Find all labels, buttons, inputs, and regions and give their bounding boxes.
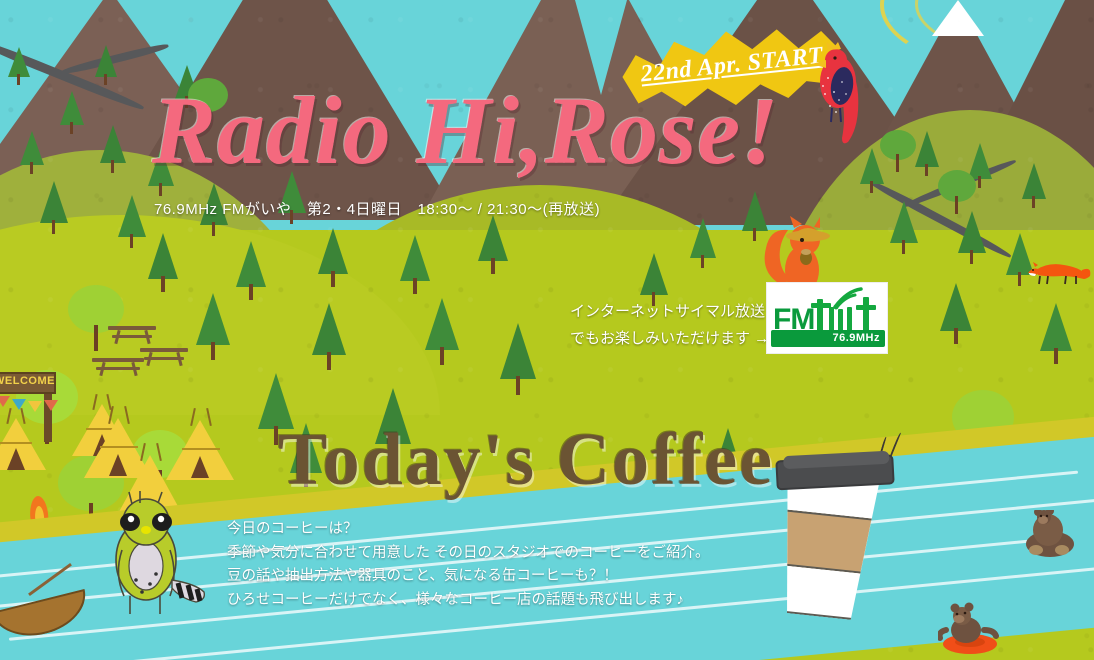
description-line: 今日のコーヒーは？: [227, 518, 747, 542]
gaiya-glyph-stroke: [811, 303, 831, 308]
picnic-table-icon: [108, 326, 156, 344]
fm-gaiya-logo[interactable]: FM 76.9MHz: [766, 282, 888, 354]
raccoon-illustration: [96, 488, 212, 618]
simulcast-notice[interactable]: インターネットサイマル放送 でもお楽しみいただけます →: [570, 298, 769, 352]
page-illustration-canvas: WELCOME: [0, 0, 1094, 660]
fm-frequency-label: 76.9MHz: [832, 330, 880, 347]
bunting-flag-icon: [28, 401, 42, 412]
section-description: 今日のコーヒーは？ 季節や気分に合わせて用意した その日のスタジオでのコーヒーを…: [227, 518, 747, 612]
picnic-table-icon: [140, 348, 188, 366]
sky-wedge-center: [160, 0, 204, 48]
picnic-table-icon: [92, 358, 144, 376]
signpost-label: WELCOME: [0, 375, 54, 387]
page-title: Radio Hi,Rose!: [152, 83, 892, 179]
broadcast-schedule-text: 76.9MHz FMがいや 第2・4日曜日 18:30〜 / 21:30〜(再放…: [154, 198, 600, 219]
radio-wave-icon: [831, 287, 865, 311]
bunting-flag-icon: [44, 400, 58, 411]
simulcast-line-1: インターネットサイマル放送: [570, 298, 769, 325]
coffee-cup-illustration: [759, 433, 917, 627]
fm-frequency-bar: 76.9MHz: [771, 330, 885, 347]
cup-sleeve: [777, 509, 876, 575]
bunting-flag-icon: [0, 396, 10, 407]
bear-sitting-illustration: [1022, 510, 1078, 558]
description-line: 季節や気分に合わせて用意した その日のスタジオでのコーヒーをご紹介。: [227, 542, 747, 566]
section-heading: Today's Coffee: [278, 423, 758, 497]
description-line: ひろせコーヒーだけでなく、様々なコーヒー店の話題も飛び出します♪: [227, 589, 747, 613]
bunting-flag-icon: [12, 399, 26, 410]
simulcast-line-2: でもお楽しみいただけます →: [570, 325, 769, 352]
fox-illustration: [1026, 256, 1092, 290]
description-line: 豆の話や抽出方法や器具のこと、気になる缶コーヒーも？！: [227, 565, 747, 589]
bear-in-tube-illustration: [938, 600, 1002, 656]
